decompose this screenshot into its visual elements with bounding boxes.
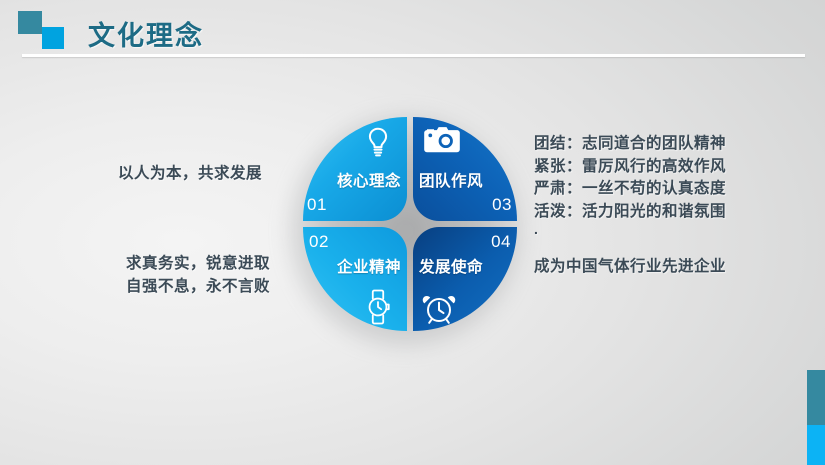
quadrant-number: 03: [492, 195, 512, 215]
text-core-concept-description: 以人为本，共求发展: [118, 162, 262, 185]
wristwatch-icon: [363, 288, 393, 326]
text-trailing-dot: .: [534, 221, 538, 237]
lightbulb-icon: [361, 125, 395, 159]
text-development-mission-description: 成为中国气体行业先进企业: [534, 255, 726, 278]
edge-decoration-dark: [807, 370, 825, 425]
quadrant-enterprise-spirit[interactable]: 企业精神 02: [303, 227, 407, 331]
quadrant-label: 核心理念: [337, 169, 401, 191]
quadrant-number: 01: [307, 195, 327, 215]
logo-square-bright-icon: [42, 27, 64, 49]
slide-canvas: 文化理念 核心理念 01: [0, 0, 825, 465]
title-divider: [22, 54, 805, 57]
quadrant-number: 02: [309, 232, 329, 252]
quadrant-label: 企业精神: [337, 255, 401, 277]
alarm-clock-icon: [421, 289, 457, 325]
four-quadrant-diagram: 核心理念 01 团队作风 03: [303, 117, 517, 331]
slide-header: 文化理念: [0, 0, 825, 60]
camera-icon: [423, 125, 461, 155]
logo-square-dark-icon: [18, 11, 42, 34]
edge-decoration-bright: [807, 425, 825, 465]
text-team-style-description: 团结：志同道合的团队精神 紧张：雷厉风行的高效作风 严肃：一丝不苟的认真态度 活…: [534, 133, 726, 223]
page-title: 文化理念: [88, 14, 204, 53]
quadrant-development-mission[interactable]: 发展使命 04: [413, 227, 517, 331]
quadrant-team-style[interactable]: 团队作风 03: [413, 117, 517, 221]
quadrant-core-concept[interactable]: 核心理念 01: [303, 117, 407, 221]
quadrant-label: 发展使命: [419, 255, 483, 277]
quadrant-number: 04: [491, 232, 511, 252]
text-enterprise-spirit-description: 求真务实，锐意进取 自强不息，永不言败: [126, 252, 270, 298]
quadrant-label: 团队作风: [419, 169, 483, 191]
